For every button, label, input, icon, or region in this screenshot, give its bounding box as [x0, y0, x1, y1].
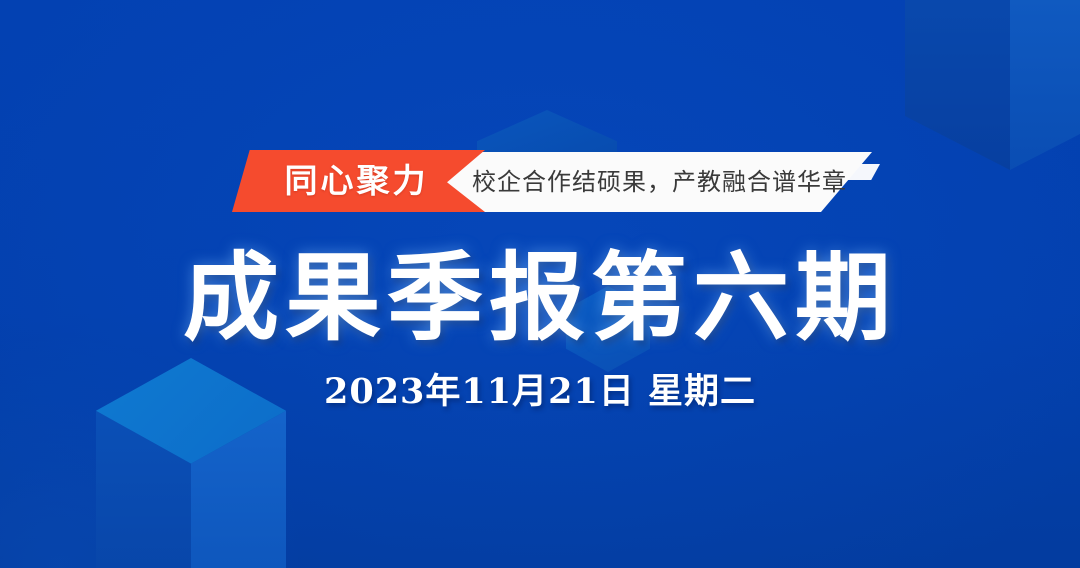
decorative-cube-top-right [905, 0, 1080, 170]
ribbon-subtitle: 校企合作结硕果，产教融合谱华章 [472, 162, 852, 202]
ribbon-tag-label: 同心聚力 [254, 158, 459, 204]
page-title: 成果季报第六期 [0, 243, 1080, 353]
poster-canvas: 同心聚力 校企合作结硕果，产教融合谱华章 成果季报第六期 2023年11月21日… [0, 0, 1080, 568]
ribbon-band: 同心聚力 校企合作结硕果，产教融合谱华章 [232, 150, 872, 214]
date-line: 2023年11月21日 星期二 [0, 370, 1080, 414]
